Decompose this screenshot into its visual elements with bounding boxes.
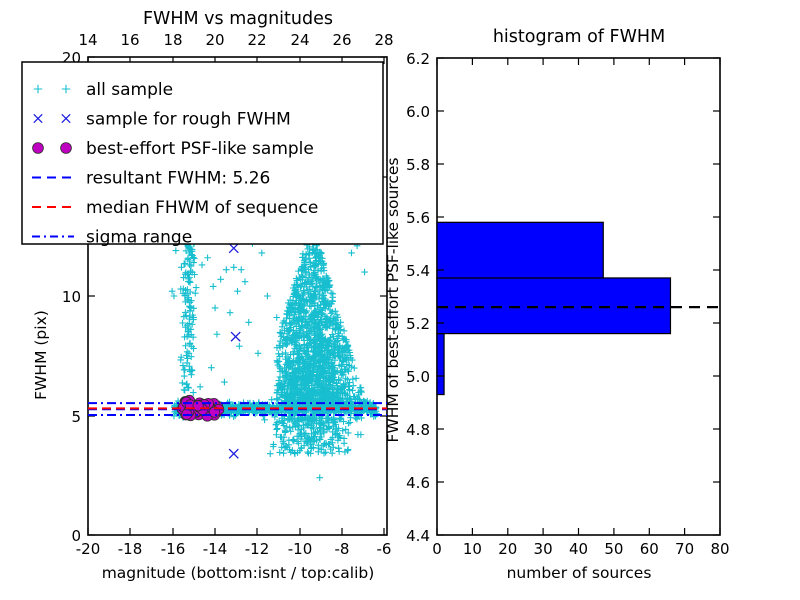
bottom-tick-1: -18 bbox=[118, 540, 143, 558]
legend-label: sigma range bbox=[86, 228, 192, 248]
scatter-point-all-sample bbox=[273, 395, 280, 402]
scatter-point-all-sample bbox=[358, 431, 365, 438]
scatter-point-all-sample bbox=[187, 279, 194, 286]
scatter-point-all-sample bbox=[357, 385, 364, 392]
right-panel-x-ticklabels: 0 10 20 30 40 50 60 70 80 bbox=[432, 540, 729, 558]
right-xtick-5: 50 bbox=[604, 540, 623, 558]
histogram-bar bbox=[437, 278, 670, 334]
scatter-point-all-sample bbox=[304, 449, 311, 456]
left-panel-ylabel: FWHM (pix) bbox=[32, 310, 50, 400]
scatter-point-all-sample bbox=[204, 254, 211, 261]
scatter-point-all-sample bbox=[316, 474, 323, 481]
scatter-point-all-sample bbox=[236, 343, 243, 350]
scatter-point-all-sample bbox=[223, 266, 230, 273]
scatter-point-all-sample bbox=[227, 309, 234, 316]
scatter-point-all-sample bbox=[329, 450, 336, 457]
scatter-point-all-sample bbox=[282, 350, 289, 357]
scatter-data-layer bbox=[152, 216, 380, 481]
bottom-tick-3: -14 bbox=[203, 540, 228, 558]
scatter-point-all-sample bbox=[347, 419, 354, 426]
scatter-point-all-sample bbox=[217, 276, 224, 283]
scatter-point-all-sample bbox=[350, 376, 357, 383]
scatter-point-all-sample bbox=[184, 349, 191, 356]
right-xtick-1: 10 bbox=[463, 540, 482, 558]
top-tick-1: 16 bbox=[120, 31, 139, 49]
scatter-point-all-sample bbox=[210, 283, 217, 290]
right-xtick-7: 70 bbox=[675, 540, 694, 558]
right-panel-ylabel: FWHM of best-effort PSF-like sources bbox=[384, 157, 402, 442]
top-tick-6: 26 bbox=[332, 31, 351, 49]
scatter-point-all-sample bbox=[361, 269, 368, 276]
scatter-point-all-sample bbox=[348, 250, 355, 257]
figure-canvas: FWHM vs magnitudes 14 16 18 20 22 24 26 … bbox=[0, 0, 800, 600]
top-tick-3: 20 bbox=[205, 31, 224, 49]
right-panel-bottom-ticks bbox=[437, 528, 720, 535]
legend-marker-circle-icon bbox=[33, 143, 44, 154]
right-ytick-2: 4.8 bbox=[406, 421, 430, 439]
bottom-tick-6: -8 bbox=[335, 540, 350, 558]
top-tick-5: 24 bbox=[290, 31, 309, 49]
left-panel-top-ticklabels: 14 16 18 20 22 24 26 28 bbox=[78, 31, 393, 49]
scatter-point-all-sample bbox=[199, 262, 206, 269]
right-ytick-9: 6.2 bbox=[406, 50, 430, 68]
scatter-point-all-sample bbox=[197, 384, 204, 391]
right-panel-right-ticks bbox=[713, 58, 720, 535]
scatter-point-all-sample bbox=[261, 417, 268, 424]
right-xtick-8: 80 bbox=[710, 540, 729, 558]
right-ytick-5: 5.4 bbox=[406, 262, 430, 280]
scatter-point-all-sample bbox=[341, 327, 348, 334]
scatter-point-rough-sample bbox=[229, 244, 238, 253]
legend: all samplesample for rough FWHMbest-effo… bbox=[22, 62, 383, 248]
scatter-point-all-sample bbox=[181, 373, 188, 380]
right-ytick-1: 4.6 bbox=[406, 474, 430, 492]
right-ytick-0: 4.4 bbox=[406, 527, 430, 545]
scatter-point-rough-sample bbox=[231, 332, 240, 341]
right-panel-histogram: histogram of FWHM bbox=[384, 27, 730, 582]
right-ytick-6: 5.6 bbox=[406, 209, 430, 227]
histogram-bars-layer bbox=[437, 222, 670, 394]
scatter-point-all-sample bbox=[258, 250, 265, 257]
legend-marker-circle-icon bbox=[61, 143, 72, 154]
scatter-point-all-sample bbox=[238, 266, 245, 273]
scatter-point-all-sample bbox=[264, 293, 271, 300]
right-ytick-8: 6.0 bbox=[406, 103, 430, 121]
scatter-point-all-sample bbox=[181, 367, 188, 374]
top-tick-2: 18 bbox=[163, 31, 182, 49]
scatter-point-all-sample bbox=[242, 278, 249, 285]
left-ytick-5: 5 bbox=[71, 408, 81, 426]
scatter-point-all-sample bbox=[353, 375, 360, 382]
right-xtick-0: 0 bbox=[432, 540, 442, 558]
scatter-point-all-sample bbox=[182, 309, 189, 316]
legend-label: best-effort PSF-like sample bbox=[86, 139, 314, 159]
scatter-point-all-sample bbox=[335, 445, 342, 452]
scatter-point-all-sample bbox=[336, 448, 343, 455]
scatter-point-all-sample bbox=[295, 268, 302, 275]
right-xtick-2: 20 bbox=[498, 540, 517, 558]
top-tick-4: 22 bbox=[247, 31, 266, 49]
right-panel-y-ticklabels: 4.4 4.6 4.8 5.0 5.2 5.4 5.6 5.8 6.0 6.2 bbox=[406, 50, 430, 545]
bottom-tick-5: -10 bbox=[288, 540, 313, 558]
legend-label: sample for rough FWHM bbox=[86, 110, 291, 130]
right-xtick-6: 60 bbox=[640, 540, 659, 558]
scatter-point-all-sample bbox=[208, 364, 215, 371]
top-tick-7: 28 bbox=[374, 31, 393, 49]
bottom-tick-2: -16 bbox=[161, 540, 186, 558]
left-panel-scatter: FWHM vs magnitudes 14 16 18 20 22 24 26 … bbox=[22, 9, 394, 582]
scatter-point-all-sample bbox=[276, 358, 283, 365]
scatter-point-all-sample bbox=[349, 387, 356, 394]
scatter-point-all-sample bbox=[273, 314, 280, 321]
scatter-point-all-sample bbox=[283, 423, 290, 430]
scatter-point-all-sample bbox=[190, 389, 197, 396]
left-ytick-10: 10 bbox=[62, 288, 81, 306]
scatter-point-all-sample bbox=[212, 305, 219, 312]
scatter-point-all-sample bbox=[230, 264, 237, 271]
histogram-bar bbox=[437, 222, 603, 278]
right-ytick-4: 5.2 bbox=[406, 315, 430, 333]
scatter-point-all-sample bbox=[268, 396, 275, 403]
bottom-tick-7: -6 bbox=[377, 540, 392, 558]
bottom-tick-0: -20 bbox=[76, 540, 101, 558]
left-panel-xlabel: magnitude (bottom:isnt / top:calib) bbox=[102, 564, 375, 582]
scatter-point-all-sample bbox=[221, 379, 228, 386]
right-ytick-3: 5.0 bbox=[406, 368, 430, 386]
scatter-point-all-sample bbox=[193, 284, 200, 291]
right-panel-top-ticks bbox=[437, 58, 720, 65]
right-ytick-7: 5.8 bbox=[406, 156, 430, 174]
right-panel-xlabel: number of sources bbox=[507, 564, 652, 582]
right-panel-title: histogram of FWHM bbox=[493, 27, 665, 47]
scatter-point-all-sample bbox=[280, 450, 287, 457]
scatter-point-all-sample bbox=[267, 450, 274, 457]
histogram-bar bbox=[437, 334, 444, 395]
right-xtick-3: 30 bbox=[534, 540, 553, 558]
left-panel-title: FWHM vs magnitudes bbox=[143, 9, 333, 29]
legend-label: resultant FWHM: 5.26 bbox=[86, 169, 270, 189]
scatter-point-all-sample bbox=[214, 331, 221, 338]
left-panel-bottom-ticklabels: -20 -18 -16 -14 -12 -10 -8 -6 bbox=[76, 540, 392, 558]
scatter-point-all-sample bbox=[245, 319, 252, 326]
bottom-tick-4: -12 bbox=[245, 540, 270, 558]
legend-label: all sample bbox=[86, 80, 173, 100]
scatter-point-all-sample bbox=[274, 425, 281, 432]
legend-label: median FHWM of sequence bbox=[86, 198, 318, 218]
scatter-point-all-sample bbox=[341, 440, 348, 447]
scatter-point-all-sample bbox=[234, 288, 241, 295]
top-tick-0: 14 bbox=[78, 31, 97, 49]
right-xtick-4: 40 bbox=[569, 540, 588, 558]
scatter-point-all-sample bbox=[192, 290, 199, 297]
scatter-point-all-sample bbox=[179, 380, 186, 387]
left-panel-bottom-ticks bbox=[88, 528, 384, 535]
scatter-point-all-sample bbox=[173, 247, 180, 254]
scatter-point-all-sample bbox=[255, 350, 262, 357]
scatter-point-rough-sample bbox=[229, 449, 238, 458]
matplotlib-figure: FWHM vs magnitudes 14 16 18 20 22 24 26 … bbox=[0, 0, 800, 600]
